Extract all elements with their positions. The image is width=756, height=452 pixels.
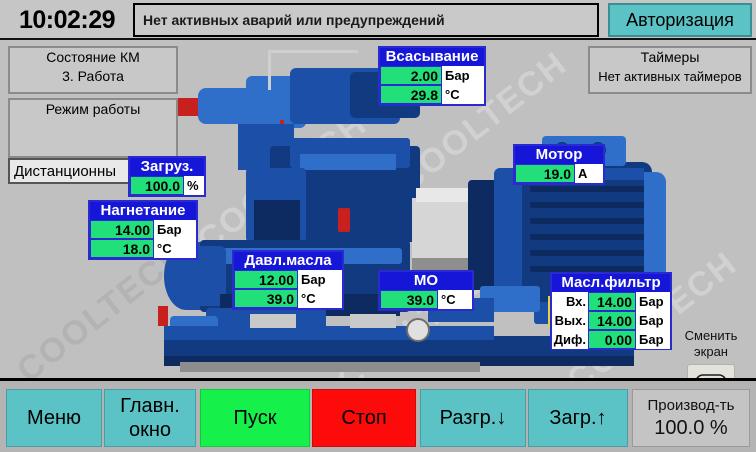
motor-title: Мотор: [515, 146, 603, 164]
main-window-label-line2: окно: [129, 418, 171, 442]
change-screen-label-line1: Сменить: [672, 328, 750, 344]
menu-label: Меню: [27, 406, 81, 430]
mo-panel[interactable]: МО 39.0 °C: [378, 270, 474, 311]
suction-temperature-unit: °C: [442, 85, 484, 104]
load-label: Загр.↑: [549, 406, 606, 430]
main-window-button[interactable]: Главн. окно: [104, 389, 196, 447]
km-state-title: Состояние КМ: [10, 48, 176, 67]
timers-title: Таймеры: [590, 48, 750, 67]
load-percent-panel[interactable]: Загруз. 100.0 %: [128, 156, 206, 197]
oil-filter-in-unit: Бар: [636, 292, 670, 311]
oil-filter-diff-label: Диф.: [552, 330, 588, 349]
discharge-title: Нагнетание: [90, 202, 196, 220]
oil-temperature-unit: °C: [298, 289, 342, 308]
authorization-label: Авторизация: [626, 10, 734, 31]
motor-panel[interactable]: Мотор 19.0 A: [513, 144, 605, 185]
oil-pressure-panel[interactable]: Давл.масла 12.00 Бар 39.0 °C: [232, 250, 344, 310]
top-status-bar: 10:02:29 Нет активных аварий или предупр…: [0, 0, 756, 40]
operating-mode-value: Дистанционны: [10, 163, 132, 180]
load-percent-title: Загруз.: [130, 158, 204, 176]
suction-pressure-unit: Бар: [442, 66, 484, 85]
load-percent-value: 100.0: [130, 176, 184, 195]
motor-current-unit: A: [575, 164, 603, 183]
oil-filter-in-value: 14.00: [588, 292, 636, 311]
unload-label: Разгр.↓: [440, 406, 507, 430]
motor-current-value: 19.0: [515, 164, 575, 183]
menu-button[interactable]: Меню: [6, 389, 102, 447]
authorization-button[interactable]: Авторизация: [608, 3, 752, 37]
load-percent-unit: %: [184, 176, 204, 195]
oil-filter-out-label: Вых.: [552, 311, 588, 330]
discharge-pressure-unit: Бар: [154, 220, 196, 239]
process-graphic-area: COOLTECH COOLTECH COOLTECH COOLTECH COOL…: [0, 40, 756, 378]
suction-panel[interactable]: Всасывание 2.00 Бар 29.8 °C: [378, 46, 486, 106]
change-screen-label-line2: экран: [672, 344, 750, 360]
oil-filter-out-value: 14.00: [588, 311, 636, 330]
discharge-temperature-unit: °C: [154, 239, 196, 258]
start-label: Пуск: [234, 406, 277, 430]
oil-temperature-value: 39.0: [234, 289, 298, 308]
alarm-text: Нет активных аварий или предупреждений: [143, 12, 445, 28]
capacity-indicator: Производ-ть 100.0 %: [632, 389, 750, 447]
discharge-temperature-value: 18.0: [90, 239, 154, 258]
oil-filter-diff-unit: Бар: [636, 330, 670, 349]
timers-value: Нет активных таймеров: [590, 67, 750, 86]
oil-pressure-unit: Бар: [298, 270, 342, 289]
suction-title: Всасывание: [380, 48, 484, 66]
discharge-panel[interactable]: Нагнетание 14.00 Бар 18.0 °C: [88, 200, 198, 260]
suction-temperature-value: 29.8: [380, 85, 442, 104]
bottom-toolbar: Меню Главн. окно Пуск Стоп Разгр.↓ Загр.…: [0, 378, 756, 452]
load-button[interactable]: Загр.↑: [528, 389, 628, 447]
change-screen-control[interactable]: Сменить экран: [672, 328, 750, 378]
mo-temperature-value: 39.0: [380, 290, 438, 309]
mo-temperature-unit: °C: [438, 290, 472, 309]
oil-filter-title: Масл.фильтр: [552, 274, 670, 292]
main-window-label-line1: Главн.: [120, 394, 180, 418]
timers-box: Таймеры Нет активных таймеров: [588, 46, 752, 94]
operating-mode-title: Режим работы: [10, 100, 176, 119]
capacity-value: 100.0 %: [654, 416, 727, 440]
discharge-pressure-value: 14.00: [90, 220, 154, 239]
capacity-title: Производ-ть: [648, 396, 735, 416]
change-screen-button[interactable]: [687, 364, 735, 378]
stop-label: Стоп: [341, 406, 386, 430]
operating-mode-box: Режим работы: [8, 98, 178, 158]
alarm-banner[interactable]: Нет активных аварий или предупреждений: [133, 3, 599, 37]
clock-display: 10:02:29: [6, 4, 128, 36]
km-state-value: 3. Работа: [10, 67, 176, 86]
hmi-screen: 10:02:29 Нет активных аварий или предупр…: [0, 0, 756, 452]
oil-filter-panel[interactable]: Масл.фильтр Вх. 14.00 Бар Вых. 14.00 Бар…: [550, 272, 672, 350]
mo-title: МО: [380, 272, 472, 290]
oil-filter-in-label: Вх.: [552, 292, 588, 311]
stop-button[interactable]: Стоп: [312, 389, 416, 447]
suction-pressure-value: 2.00: [380, 66, 442, 85]
oil-filter-diff-value: 0.00: [588, 330, 636, 349]
oil-pressure-title: Давл.масла: [234, 252, 342, 270]
start-button[interactable]: Пуск: [200, 389, 310, 447]
km-state-box: Состояние КМ 3. Работа: [8, 46, 178, 94]
oil-filter-out-unit: Бар: [636, 311, 670, 330]
oil-pressure-value: 12.00: [234, 270, 298, 289]
unload-button[interactable]: Разгр.↓: [420, 389, 526, 447]
